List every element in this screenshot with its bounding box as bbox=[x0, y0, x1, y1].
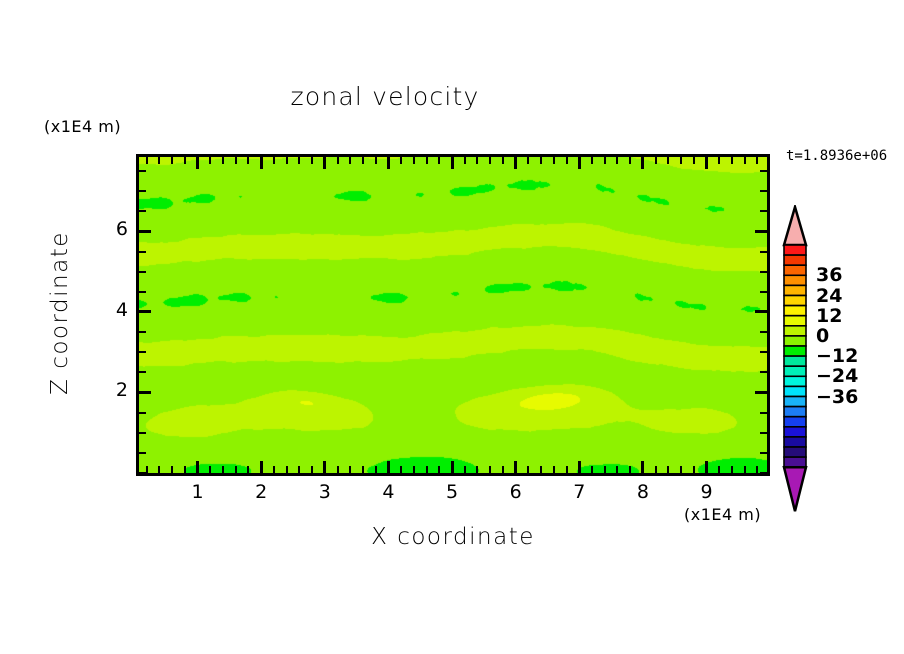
x-major-tick-bottom bbox=[578, 461, 581, 473]
x-minor-tick-top bbox=[464, 157, 466, 164]
x-minor-tick-top bbox=[629, 157, 631, 164]
x-major-tick-top bbox=[578, 157, 581, 169]
x-minor-tick-bottom bbox=[209, 466, 211, 473]
x-minor-tick-bottom bbox=[553, 466, 555, 473]
x-minor-tick-top bbox=[311, 157, 313, 164]
x-major-tick-bottom bbox=[196, 461, 199, 473]
y-tick-label: 4 bbox=[88, 299, 128, 321]
x-minor-tick-bottom bbox=[540, 466, 542, 473]
y-minor-tick-left bbox=[139, 432, 146, 434]
y-minor-tick-left bbox=[139, 331, 146, 333]
colorbar-band bbox=[784, 245, 806, 255]
y-minor-tick-right bbox=[760, 271, 767, 273]
x-minor-tick-bottom bbox=[362, 466, 364, 473]
x-minor-tick-top bbox=[222, 157, 224, 164]
x-major-tick-bottom bbox=[323, 461, 326, 473]
x-minor-tick-top bbox=[286, 157, 288, 164]
y-minor-tick-left bbox=[139, 371, 146, 373]
y-minor-tick-right bbox=[760, 251, 767, 253]
colorbar-band bbox=[784, 447, 806, 457]
x-major-tick-top bbox=[323, 157, 326, 169]
y-minor-tick-right bbox=[760, 331, 767, 333]
x-minor-tick-bottom bbox=[273, 466, 275, 473]
x-minor-tick-top bbox=[502, 157, 504, 164]
x-minor-tick-top bbox=[744, 157, 746, 164]
y-major-tick-right bbox=[755, 391, 767, 394]
x-tick-label: 8 bbox=[623, 481, 663, 503]
colorbar-tick-label: 12 bbox=[816, 305, 842, 327]
colorbar-band bbox=[784, 306, 806, 316]
colorbar-band bbox=[784, 326, 806, 336]
colorbar-band bbox=[784, 366, 806, 376]
x-minor-tick-bottom bbox=[693, 466, 695, 473]
x-minor-tick-top bbox=[426, 157, 428, 164]
colorbar-band bbox=[784, 336, 806, 346]
page-title: zonal velocity bbox=[0, 82, 770, 111]
y-minor-tick-left bbox=[139, 412, 146, 414]
x-minor-tick-bottom bbox=[222, 466, 224, 473]
colorbar-gradient bbox=[780, 205, 814, 516]
x-minor-tick-top bbox=[540, 157, 542, 164]
x-minor-tick-bottom bbox=[476, 466, 478, 473]
x-major-tick-top bbox=[451, 157, 454, 169]
y-tick-label: 6 bbox=[88, 218, 128, 240]
x-minor-tick-top bbox=[667, 157, 669, 164]
colorbar-band bbox=[784, 265, 806, 275]
y-axis-title: Z coordinate bbox=[47, 193, 73, 433]
x-minor-tick-top bbox=[489, 157, 491, 164]
x-minor-tick-bottom bbox=[464, 466, 466, 473]
colorbar-tick-label: −12 bbox=[816, 345, 858, 367]
x-minor-tick-top bbox=[731, 157, 733, 164]
x-minor-tick-top bbox=[298, 157, 300, 164]
y-minor-tick-right bbox=[760, 170, 767, 172]
y-minor-tick-right bbox=[760, 412, 767, 414]
x-minor-tick-top bbox=[235, 157, 237, 164]
x-minor-tick-bottom bbox=[311, 466, 313, 473]
x-minor-tick-bottom bbox=[171, 466, 173, 473]
colorbar-under-cap bbox=[784, 467, 806, 511]
x-major-tick-bottom bbox=[514, 461, 517, 473]
x-minor-tick-bottom bbox=[629, 466, 631, 473]
x-tick-label: 7 bbox=[559, 481, 599, 503]
x-minor-tick-top bbox=[616, 157, 618, 164]
x-minor-tick-top bbox=[375, 157, 377, 164]
x-minor-tick-bottom bbox=[731, 466, 733, 473]
y-major-tick-left bbox=[139, 310, 151, 313]
x-minor-tick-bottom bbox=[655, 466, 657, 473]
y-minor-tick-left bbox=[139, 190, 146, 192]
y-major-tick-right bbox=[755, 310, 767, 313]
y-axis-unit-label: (x1E4 m) bbox=[44, 117, 121, 136]
x-tick-label: 6 bbox=[496, 481, 536, 503]
x-tick-label: 1 bbox=[178, 481, 218, 503]
y-minor-tick-right bbox=[760, 472, 767, 474]
colorbar-band bbox=[784, 255, 806, 265]
x-minor-tick-bottom bbox=[756, 466, 758, 473]
colorbar-band bbox=[784, 285, 806, 295]
x-minor-tick-bottom bbox=[349, 466, 351, 473]
colorbar-over-cap bbox=[784, 207, 806, 245]
x-minor-tick-top bbox=[362, 157, 364, 164]
contour-field bbox=[139, 157, 767, 473]
x-minor-tick-bottom bbox=[667, 466, 669, 473]
x-minor-tick-top bbox=[527, 157, 529, 164]
y-minor-tick-left bbox=[139, 452, 146, 454]
x-major-tick-bottom bbox=[260, 461, 263, 473]
x-minor-tick-top bbox=[718, 157, 720, 164]
x-minor-tick-bottom bbox=[591, 466, 593, 473]
colorbar-band bbox=[784, 427, 806, 437]
x-major-tick-bottom bbox=[451, 461, 454, 473]
contour-plot-area bbox=[136, 154, 770, 476]
x-minor-tick-bottom bbox=[527, 466, 529, 473]
x-major-tick-bottom bbox=[387, 461, 390, 473]
y-minor-tick-left bbox=[139, 351, 146, 353]
x-minor-tick-top bbox=[655, 157, 657, 164]
colorbar-band bbox=[784, 407, 806, 417]
x-minor-tick-top bbox=[400, 157, 402, 164]
x-minor-tick-bottom bbox=[489, 466, 491, 473]
x-minor-tick-top bbox=[247, 157, 249, 164]
colorbar-band bbox=[784, 316, 806, 326]
x-minor-tick-top bbox=[604, 157, 606, 164]
x-major-tick-top bbox=[514, 157, 517, 169]
colorbar-band bbox=[784, 376, 806, 386]
y-minor-tick-left bbox=[139, 271, 146, 273]
colorbar-tick-label: −36 bbox=[816, 386, 858, 408]
x-minor-tick-top bbox=[146, 157, 148, 164]
x-minor-tick-top bbox=[171, 157, 173, 164]
x-minor-tick-top bbox=[438, 157, 440, 164]
x-major-tick-top bbox=[196, 157, 199, 169]
colorbar-band bbox=[784, 397, 806, 407]
x-tick-label: 3 bbox=[305, 481, 345, 503]
x-minor-tick-bottom bbox=[247, 466, 249, 473]
colorbar-tick-label: 24 bbox=[816, 285, 842, 307]
x-major-tick-bottom bbox=[641, 461, 644, 473]
colorbar-band bbox=[784, 386, 806, 396]
figure-root: zonal velocity (x1E4 m) (x1E4 m) X coord… bbox=[0, 0, 904, 654]
colorbar-band bbox=[784, 346, 806, 356]
y-minor-tick-right bbox=[760, 190, 767, 192]
y-major-tick-left bbox=[139, 230, 151, 233]
x-minor-tick-bottom bbox=[298, 466, 300, 473]
x-major-tick-top bbox=[705, 157, 708, 169]
y-minor-tick-left bbox=[139, 251, 146, 253]
x-minor-tick-bottom bbox=[286, 466, 288, 473]
x-minor-tick-bottom bbox=[438, 466, 440, 473]
x-axis-unit-label: (x1E4 m) bbox=[684, 505, 761, 524]
x-minor-tick-top bbox=[476, 157, 478, 164]
y-minor-tick-right bbox=[760, 291, 767, 293]
y-major-tick-left bbox=[139, 391, 151, 394]
x-minor-tick-top bbox=[756, 157, 758, 164]
colorbar-tick-label: 36 bbox=[816, 264, 842, 286]
y-minor-tick-right bbox=[760, 432, 767, 434]
colorbar-band bbox=[784, 457, 806, 467]
x-minor-tick-bottom bbox=[502, 466, 504, 473]
y-minor-tick-right bbox=[760, 351, 767, 353]
y-minor-tick-right bbox=[760, 371, 767, 373]
x-tick-label: 5 bbox=[432, 481, 472, 503]
x-major-tick-top bbox=[387, 157, 390, 169]
colorbar: 3624120−12−24−36 bbox=[780, 205, 814, 516]
x-axis-title: X coordinate bbox=[136, 524, 770, 550]
colorbar-band bbox=[784, 356, 806, 366]
x-minor-tick-bottom bbox=[426, 466, 428, 473]
y-major-tick-right bbox=[755, 230, 767, 233]
y-tick-label: 2 bbox=[88, 379, 128, 401]
x-minor-tick-bottom bbox=[566, 466, 568, 473]
x-minor-tick-top bbox=[349, 157, 351, 164]
x-minor-tick-bottom bbox=[235, 466, 237, 473]
y-minor-tick-left bbox=[139, 472, 146, 474]
x-minor-tick-bottom bbox=[400, 466, 402, 473]
x-minor-tick-bottom bbox=[680, 466, 682, 473]
x-major-tick-top bbox=[641, 157, 644, 169]
x-tick-label: 4 bbox=[368, 481, 408, 503]
colorbar-band bbox=[784, 437, 806, 447]
y-minor-tick-left bbox=[139, 210, 146, 212]
x-tick-label: 2 bbox=[241, 481, 281, 503]
x-major-tick-bottom bbox=[705, 461, 708, 473]
x-minor-tick-top bbox=[566, 157, 568, 164]
x-minor-tick-bottom bbox=[616, 466, 618, 473]
x-minor-tick-bottom bbox=[413, 466, 415, 473]
x-minor-tick-top bbox=[337, 157, 339, 164]
x-minor-tick-top bbox=[184, 157, 186, 164]
y-minor-tick-left bbox=[139, 291, 146, 293]
x-minor-tick-bottom bbox=[158, 466, 160, 473]
colorbar-tick-label: 0 bbox=[816, 325, 829, 347]
x-major-tick-top bbox=[260, 157, 263, 169]
x-minor-tick-top bbox=[591, 157, 593, 164]
y-minor-tick-right bbox=[760, 452, 767, 454]
x-minor-tick-top bbox=[158, 157, 160, 164]
x-minor-tick-top bbox=[273, 157, 275, 164]
x-minor-tick-bottom bbox=[604, 466, 606, 473]
x-minor-tick-bottom bbox=[744, 466, 746, 473]
x-minor-tick-top bbox=[693, 157, 695, 164]
y-minor-tick-left bbox=[139, 170, 146, 172]
x-minor-tick-bottom bbox=[337, 466, 339, 473]
x-tick-label: 9 bbox=[687, 481, 727, 503]
x-minor-tick-top bbox=[680, 157, 682, 164]
x-minor-tick-top bbox=[413, 157, 415, 164]
colorbar-band bbox=[784, 417, 806, 427]
x-minor-tick-bottom bbox=[375, 466, 377, 473]
x-minor-tick-top bbox=[209, 157, 211, 164]
colorbar-band bbox=[784, 275, 806, 285]
timestamp-annotation: t=1.8936e+06 bbox=[786, 148, 887, 164]
x-minor-tick-bottom bbox=[184, 466, 186, 473]
x-minor-tick-bottom bbox=[718, 466, 720, 473]
colorbar-tick-label: −24 bbox=[816, 365, 858, 387]
y-minor-tick-right bbox=[760, 210, 767, 212]
x-minor-tick-top bbox=[553, 157, 555, 164]
colorbar-band bbox=[784, 296, 806, 306]
